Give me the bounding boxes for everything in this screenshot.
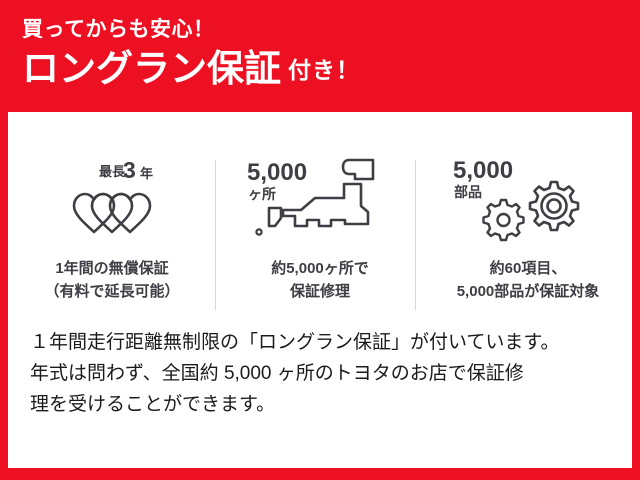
gear-small [484,200,524,240]
feature-caption: 約5,000ヶ所で 保証修理 [271,258,369,303]
header-headline: ロングラン保証付き！ [22,50,640,87]
japan-map-icon: 5,000 ヶ所 [235,154,405,246]
feature-caption: 約60項目、 5,000部品が保証対象 [457,258,600,303]
caption-line-1: 約5,000ヶ所で [271,258,369,281]
badge-number: 3 [123,157,136,183]
caption-line-2: （有料で延長可能） [44,281,179,304]
feature-row: 最長 3 年 1年間の無償保証 （有料で延長可能） [8,112,632,324]
body-description: １年間走行距離無制限の「ロングラン保証」が付いています。 年式は問わず、全国約 … [8,328,632,420]
badge-number: 5,000 [453,157,513,184]
feature-caption: 1年間の無償保証 （有料で延長可能） [44,258,179,303]
badge-unit: 部品 [454,184,482,200]
caption-line-2: 5,000部品が保証対象 [457,281,600,304]
badge-prefix: 最長 [99,164,126,179]
gears-icon: 5,000 部品 [443,154,613,246]
feature-covered-parts: 5,000 部品 約60項目、 5,000部品が保証対象 [424,112,632,324]
badge-number: 5,000 [247,159,307,186]
badge-suffix: 年 [140,166,153,181]
gear-large [530,182,578,230]
body-line-2: 年式は問わず、全国約 5,000 ヶ所のトヨタのお店で保証修 [30,359,612,390]
longrun-warranty-ad: 買ってからも安心！ ロングラン保証付き！ 最長 3 年 [0,0,640,480]
header-kicker: 買ってからも安心！ [22,18,640,41]
map-region-kyushu [269,208,281,226]
caption-line-1: 1年間の無償保証 [44,258,179,281]
ad-header: 買ってからも安心！ ロングラン保証付き！ [0,0,640,112]
content-panel: 最長 3 年 1年間の無償保証 （有料で延長可能） [8,112,632,468]
map-region-okinawa [256,229,261,234]
map-region-hokkaido [343,160,373,179]
body-line-3: 理を受けることができます。 [30,390,612,421]
feature-service-locations: 5,000 ヶ所 約5,000ヶ所で 保証修理 [216,112,424,324]
three-hearts-icon: 最長 3 年 [27,154,197,246]
badge-unit: ヶ所 [248,186,276,202]
headline-main-text: ロングラン保証 [22,48,281,89]
headline-suffix-text: 付き！ [281,57,360,83]
map-region-honshu [283,184,368,226]
feature-warranty-term: 最長 3 年 1年間の無償保証 （有料で延長可能） [8,112,216,324]
body-line-1: １年間走行距離無制限の「ロングラン保証」が付いています。 [30,328,612,359]
caption-line-1: 約60項目、 [457,258,600,281]
caption-line-2: 保証修理 [271,281,369,304]
